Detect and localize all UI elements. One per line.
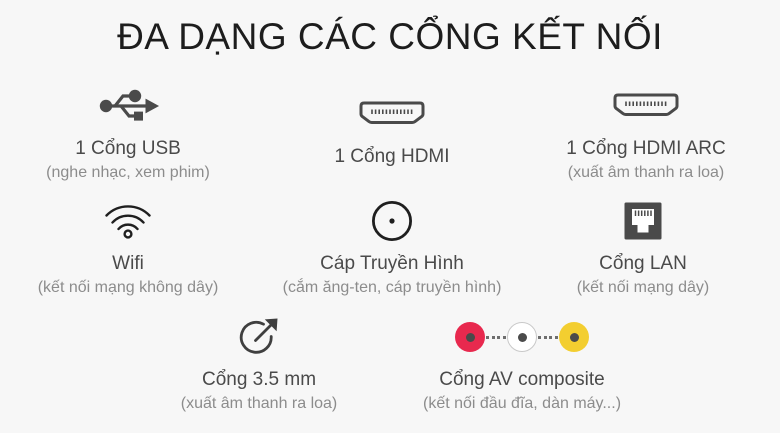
connectivity-infographic: ĐA DẠNG CÁC CỔNG KẾT NỐI 1 Cổng USB (ngh… bbox=[0, 0, 780, 433]
rca-connector-red bbox=[455, 322, 485, 352]
feature-label: Wifi bbox=[0, 251, 263, 276]
feature-sublabel: (cắm ăng-ten, cáp truyền hình) bbox=[257, 277, 527, 299]
feature-sublabel: (kết nối đầu đĩa, dàn máy...) bbox=[387, 393, 657, 415]
feature-av: Cổng AV composite (kết nối đầu đĩa, dàn … bbox=[387, 315, 657, 415]
coaxial-antenna-icon bbox=[257, 199, 527, 243]
feature-usb: 1 Cổng USB (nghe nhạc, xem phim) bbox=[0, 84, 263, 184]
feature-label: Cổng AV composite bbox=[387, 367, 657, 392]
feature-wifi: Wifi (kết nối mạng không dây) bbox=[0, 199, 263, 299]
lan-rj45-icon bbox=[508, 199, 778, 243]
feature-sublabel: (xuất âm thanh ra loa) bbox=[124, 393, 394, 415]
feature-sublabel: (kết nối mạng dây) bbox=[508, 277, 778, 299]
feature-sublabel: (kết nối mạng không dây) bbox=[0, 277, 263, 299]
page-title: ĐA DẠNG CÁC CỔNG KẾT NỐI bbox=[0, 14, 780, 60]
feature-sublabel: (xuất âm thanh ra loa) bbox=[511, 162, 780, 184]
rca-pin bbox=[466, 333, 475, 342]
rca-connector-white bbox=[507, 322, 537, 352]
feature-label: 1 Cổng HDMI ARC bbox=[511, 136, 780, 161]
feature-coax: Cáp Truyền Hình (cắm ăng-ten, cáp truyền… bbox=[257, 199, 527, 299]
hdmi-port-icon bbox=[511, 84, 780, 128]
feature-label: 1 Cổng USB bbox=[0, 136, 263, 161]
feature-sublabel: (nghe nhạc, xem phim) bbox=[0, 162, 263, 184]
feature-label: Cáp Truyền Hình bbox=[257, 251, 527, 276]
feature-label: 1 Cổng HDMI bbox=[257, 144, 527, 169]
rca-pin bbox=[518, 333, 527, 342]
cable-dots bbox=[485, 335, 507, 339]
feature-hdmi: 1 Cổng HDMI bbox=[257, 92, 527, 170]
cable-dots bbox=[537, 335, 559, 339]
wifi-icon bbox=[0, 199, 263, 243]
feature-lan: Cổng LAN (kết nối mạng dây) bbox=[508, 199, 778, 299]
rca-connector-yellow bbox=[559, 322, 589, 352]
feature-label: Cổng 3.5 mm bbox=[124, 367, 394, 392]
rca-pin bbox=[570, 333, 579, 342]
hdmi-port-icon bbox=[257, 92, 527, 136]
feature-label: Cổng LAN bbox=[508, 251, 778, 276]
av-composite-icon bbox=[387, 315, 657, 359]
usb-icon bbox=[0, 84, 263, 128]
feature-jack: Cổng 3.5 mm (xuất âm thanh ra loa) bbox=[124, 315, 394, 415]
audio-out-arrow-icon bbox=[124, 315, 394, 359]
feature-hdmi-arc: 1 Cổng HDMI ARC (xuất âm thanh ra loa) bbox=[511, 84, 780, 184]
av-connector-row bbox=[455, 322, 589, 352]
